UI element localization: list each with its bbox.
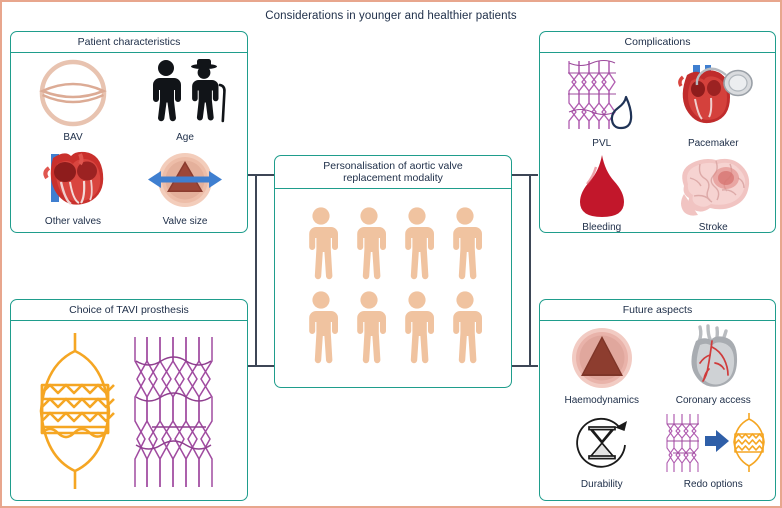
valve-size-arrow-icon (129, 147, 241, 213)
coronary-heart-icon (658, 325, 770, 392)
item-age-label: Age (176, 132, 194, 143)
person-figure-icon (303, 207, 339, 283)
person-figure-icon (351, 207, 387, 283)
person-figure-icon (399, 207, 435, 283)
connector-left-bottom (247, 365, 275, 367)
item-durability[interactable]: Durability (546, 410, 658, 495)
panel-future-aspects-header: Future aspects (540, 300, 775, 321)
item-bav-label: BAV (63, 132, 82, 143)
item-valve-size[interactable]: Valve size (129, 147, 241, 231)
self-expanding-stent-icon[interactable] (127, 331, 231, 491)
panel-patient-characteristics-body: BAV (11, 53, 247, 232)
panel-personalisation-body (275, 189, 511, 385)
figure-container: Considerations in younger and healthier … (0, 0, 782, 508)
panel-patient-characteristics-title: Patient characteristics (78, 36, 181, 48)
item-coronary-access[interactable]: Coronary access (658, 325, 770, 410)
panel-patient-characteristics-header: Patient characteristics (11, 32, 247, 53)
panel-personalisation-title-line1: Personalisation of aortic valve (323, 160, 463, 172)
connector-right-bottom (510, 365, 538, 367)
panel-complications: Complications (539, 31, 776, 233)
person-figure-icon (399, 291, 435, 367)
age-figures-icon (129, 57, 241, 129)
panel-complications-body: PVL (540, 53, 775, 232)
people-grid (275, 189, 511, 385)
valve-haemodynamics-icon (546, 325, 658, 392)
panel-complications-header: Complications (540, 32, 775, 53)
panel-personalisation-title: Personalisation of aortic valve replacem… (323, 160, 463, 185)
pacemaker-heart-icon (658, 57, 770, 135)
panel-future-aspects-title: Future aspects (623, 304, 692, 316)
paravalvular-leak-icon (546, 57, 658, 135)
panel-tavi-prosthesis-title: Choice of TAVI prosthesis (69, 304, 189, 316)
item-other-valves-label: Other valves (45, 216, 101, 227)
item-pacemaker-label: Pacemaker (688, 138, 739, 149)
brain-icon (658, 153, 770, 219)
item-age[interactable]: Age (129, 57, 241, 147)
panel-tavi-prosthesis: Choice of TAVI prosthesis (10, 299, 248, 501)
person-figure-icon (447, 207, 483, 283)
panel-personalisation-header: Personalisation of aortic valve replacem… (275, 156, 511, 189)
item-bleeding[interactable]: Bleeding (546, 153, 658, 237)
item-haemodynamics-label: Haemodynamics (565, 395, 639, 406)
blood-drop-icon (546, 153, 658, 219)
panel-complications-title: Complications (625, 36, 691, 48)
bicuspid-aortic-valve-icon (17, 57, 129, 129)
panel-personalisation: Personalisation of aortic valve replacem… (274, 155, 512, 388)
item-durability-label: Durability (581, 479, 623, 490)
item-bav[interactable]: BAV (17, 57, 129, 147)
item-pvl[interactable]: PVL (546, 57, 658, 153)
item-pacemaker[interactable]: Pacemaker (658, 57, 770, 153)
connector-left-top (247, 174, 275, 176)
item-valve-size-label: Valve size (163, 216, 208, 227)
panel-tavi-prosthesis-header: Choice of TAVI prosthesis (11, 300, 247, 321)
figure-title: Considerations in younger and healthier … (2, 10, 780, 22)
panel-patient-characteristics: Patient characteristics BAV (10, 31, 248, 233)
panel-personalisation-title-line2: replacement modality (343, 172, 443, 184)
panel-tavi-prosthesis-body (11, 321, 247, 500)
item-pvl-label: PVL (592, 138, 611, 149)
heart-valves-icon (17, 147, 129, 213)
connector-left-vertical (255, 174, 257, 367)
item-haemodynamics[interactable]: Haemodynamics (546, 325, 658, 410)
person-figure-icon (303, 291, 339, 367)
connector-right-top (510, 174, 538, 176)
item-coronary-access-label: Coronary access (676, 395, 751, 406)
connector-right-vertical (529, 174, 531, 367)
hourglass-cycle-icon (546, 410, 658, 477)
redo-valve-in-valve-icon (658, 410, 770, 477)
item-other-valves[interactable]: Other valves (17, 147, 129, 231)
balloon-expandable-valve-icon[interactable] (27, 331, 123, 491)
item-bleeding-label: Bleeding (582, 222, 621, 233)
panel-future-aspects: Future aspects Haemodynamics (539, 299, 776, 501)
person-figure-icon (351, 291, 387, 367)
panel-future-aspects-body: Haemodynamics (540, 321, 775, 500)
item-redo-options[interactable]: Redo options (658, 410, 770, 495)
item-redo-options-label: Redo options (684, 479, 743, 490)
item-stroke[interactable]: Stroke (658, 153, 770, 237)
person-figure-icon (447, 291, 483, 367)
item-stroke-label: Stroke (699, 222, 728, 233)
